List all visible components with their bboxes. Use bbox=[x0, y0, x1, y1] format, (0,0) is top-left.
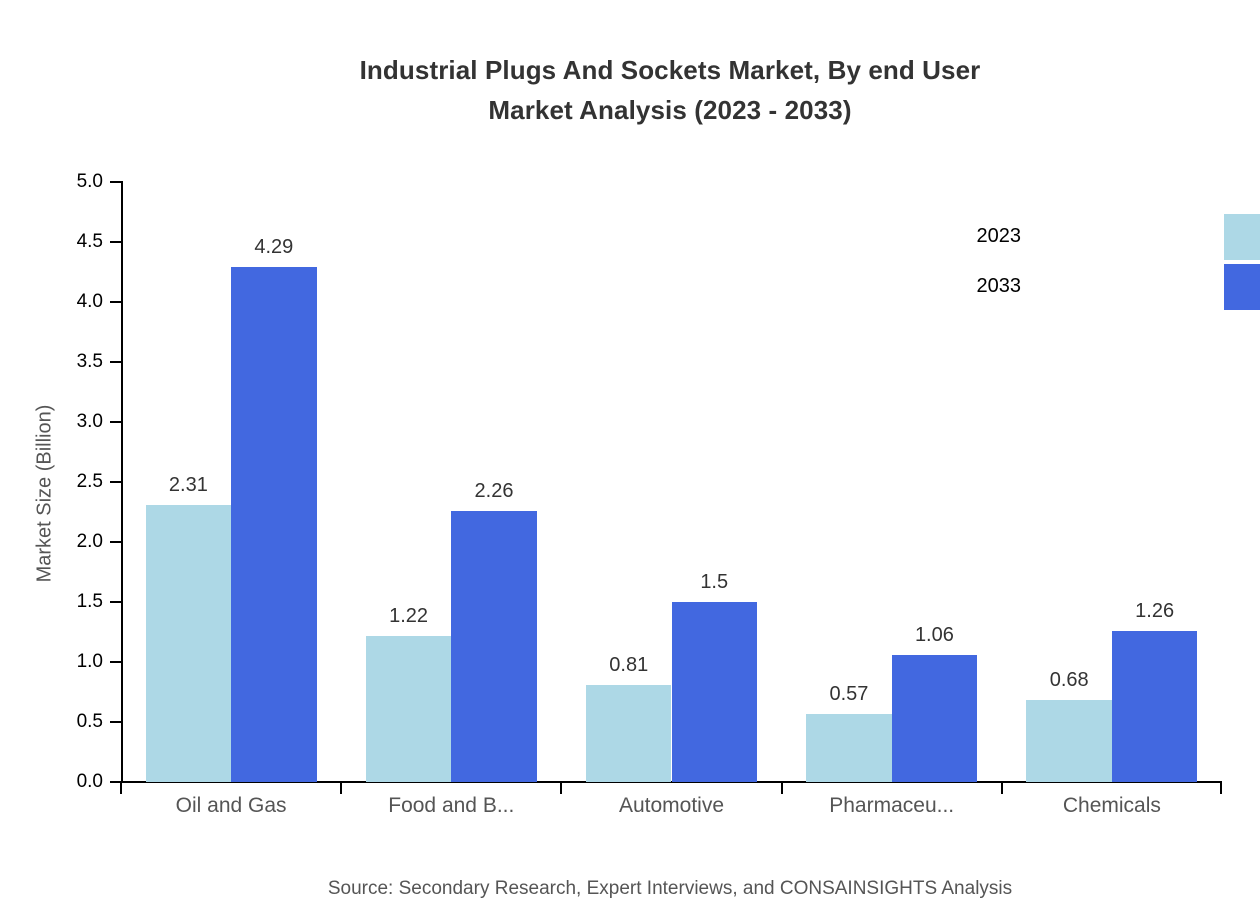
chart-title: Industrial Plugs And Sockets Market, By … bbox=[0, 50, 1260, 130]
bar-chart: Industrial Plugs And Sockets Market, By … bbox=[0, 0, 1260, 920]
legend-label: 2023 bbox=[977, 225, 1022, 248]
bar-2033-5[interactable] bbox=[1112, 631, 1197, 782]
y-axis-tick-label: 0.0 bbox=[43, 771, 103, 793]
bar-2023-2[interactable] bbox=[366, 636, 451, 782]
bar-value-label: 2.31 bbox=[169, 474, 208, 497]
y-axis-tick-label: 1.0 bbox=[43, 651, 103, 673]
x-axis-tick bbox=[120, 781, 122, 794]
bar-2023-5[interactable] bbox=[1026, 700, 1111, 782]
chart-title-line1: Industrial Plugs And Sockets Market, By … bbox=[360, 55, 981, 85]
y-axis-tick-label: 3.5 bbox=[43, 351, 103, 373]
x-axis-category-label: Food and B... bbox=[388, 794, 514, 818]
bar-2023-3[interactable] bbox=[586, 685, 671, 782]
y-axis-tick-label: 2.0 bbox=[43, 531, 103, 553]
bar-value-label: 2.26 bbox=[475, 480, 514, 503]
bar-2023-4[interactable] bbox=[806, 714, 891, 782]
legend-label: 2033 bbox=[977, 275, 1022, 298]
y-axis-title: Market Size (Billion) bbox=[34, 194, 57, 794]
bar-value-label: 0.57 bbox=[830, 683, 869, 706]
bar-2033-4[interactable] bbox=[892, 655, 977, 782]
y-axis-tick-label: 3.0 bbox=[43, 411, 103, 433]
y-axis-tick-label: 4.5 bbox=[43, 231, 103, 253]
bar-value-label: 0.81 bbox=[609, 654, 648, 677]
bar-value-label: 1.26 bbox=[1135, 600, 1174, 623]
x-axis-end-cap bbox=[1220, 781, 1222, 794]
x-axis-category-label: Oil and Gas bbox=[176, 794, 287, 818]
x-axis-tick bbox=[1001, 781, 1003, 794]
bar-2023-1[interactable] bbox=[146, 505, 231, 782]
y-axis-tick-label: 0.5 bbox=[43, 711, 103, 733]
source-note: Source: Secondary Research, Expert Inter… bbox=[0, 878, 1260, 900]
x-axis-tick bbox=[560, 781, 562, 794]
chart-title-line2: Market Analysis (2023 - 2033) bbox=[0, 90, 1260, 130]
legend-swatch bbox=[1224, 214, 1260, 260]
bar-value-label: 1.5 bbox=[700, 571, 728, 594]
bar-value-label: 4.29 bbox=[254, 236, 293, 259]
y-axis-tick-label: 2.5 bbox=[43, 471, 103, 493]
bar-value-label: 1.06 bbox=[915, 624, 954, 647]
x-axis-category-label: Automotive bbox=[619, 794, 724, 818]
legend-swatch bbox=[1224, 264, 1260, 310]
x-axis-category-label: Chemicals bbox=[1063, 794, 1161, 818]
bar-value-label: 0.68 bbox=[1050, 669, 1089, 692]
bar-2033-1[interactable] bbox=[231, 267, 316, 782]
y-axis-tick-label: 4.0 bbox=[43, 291, 103, 313]
y-axis-tick-label: 1.5 bbox=[43, 591, 103, 613]
x-axis-tick bbox=[781, 781, 783, 794]
x-axis-category-label: Pharmaceu... bbox=[829, 794, 954, 818]
bar-2033-3[interactable] bbox=[672, 602, 757, 782]
bar-2033-2[interactable] bbox=[451, 511, 536, 782]
x-axis-tick bbox=[340, 781, 342, 794]
y-axis-tick-label: 5.0 bbox=[43, 171, 103, 193]
plot-area: 2.314.291.222.260.811.50.571.060.681.26 bbox=[121, 182, 1222, 782]
bar-value-label: 1.22 bbox=[389, 605, 428, 628]
